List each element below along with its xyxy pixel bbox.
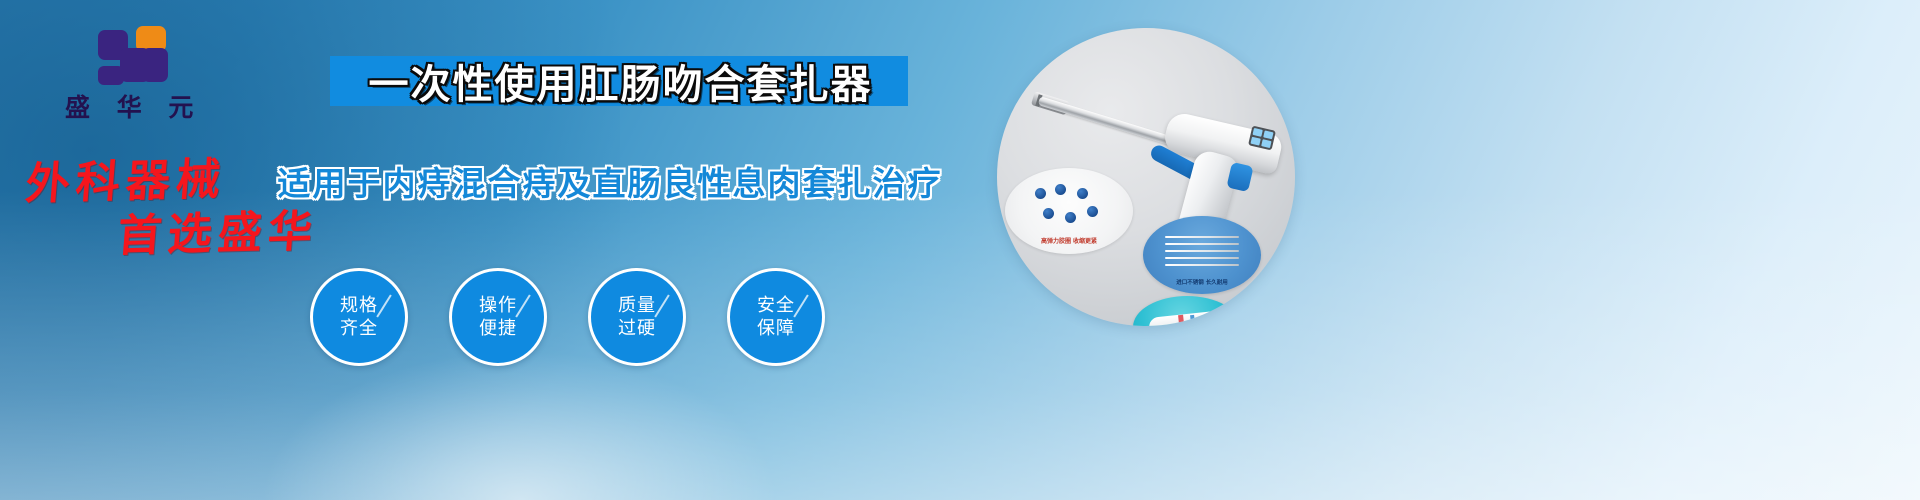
product-photo-circle[interactable]: 高弹力胶圈 收缩更紧 进口不锈钢 长久耐用: [997, 28, 1295, 326]
product-banner: 盛 华 元 外科器械 首选盛华 一次性使用肛肠吻合套扎器 适用于内痔混合痔及直肠…: [0, 0, 1920, 500]
feature-badge-line-1: 质量: [618, 294, 656, 317]
feature-badge-safety[interactable]: 安全 保障: [727, 268, 825, 366]
cartridge-body-icon: [1148, 310, 1226, 326]
background-bottom-glow: [260, 350, 780, 500]
page-subtitle: 适用于内痔混合痔及直肠良性息肉套扎治疗: [300, 158, 920, 204]
feature-badge-line-1: 安全: [757, 294, 795, 317]
feature-badge-line-2: 齐全: [340, 317, 378, 340]
needle-set-icon: [1165, 234, 1241, 268]
device-button-icon: [1226, 162, 1253, 192]
inset-caption-needles: 进口不锈钢 长久耐用: [1153, 278, 1251, 286]
feature-badge-line-2: 便捷: [479, 317, 517, 340]
feature-badge-operation[interactable]: 操作 便捷: [449, 268, 547, 366]
feature-badge-line-1: 操作: [479, 294, 517, 317]
feature-badge-specifications[interactable]: 规格 齐全: [310, 268, 408, 366]
feature-badge-line-1: 规格: [340, 294, 378, 317]
inset-photo-cartridge: [1133, 296, 1241, 326]
page-title: 一次性使用肛肠吻合套扎器: [338, 53, 903, 109]
slash-accent-icon: [376, 294, 391, 317]
slash-accent-icon: [515, 294, 530, 317]
inset-caption-rubber-bands: 高弹力胶圈 收缩更紧: [1023, 236, 1115, 245]
feature-badge-line-2: 过硬: [618, 317, 656, 340]
company-name: 盛 华 元: [62, 88, 198, 124]
product-photo-content: 高弹力胶圈 收缩更紧 进口不锈钢 长久耐用: [997, 28, 1295, 326]
slogan-line-2: 首选盛华: [115, 195, 321, 264]
rubber-band-dots-icon: [1035, 184, 1103, 228]
inset-photo-needles: 进口不锈钢 长久耐用: [1143, 216, 1261, 294]
slash-accent-icon: [654, 294, 669, 317]
feature-badge-quality[interactable]: 质量 过硬: [588, 268, 686, 366]
brand-logo[interactable]: 盛 华 元: [62, 26, 232, 126]
feature-badge-line-2: 保障: [757, 317, 795, 340]
shenghuayuan-logo-icon: [98, 26, 170, 86]
device-barrel-icon: [1038, 96, 1175, 146]
inset-photo-rubber-bands: 高弹力胶圈 收缩更紧: [1005, 168, 1133, 254]
slash-accent-icon: [793, 294, 808, 317]
feature-badge-list: 规格 齐全 操作 便捷 质量 过硬 安全 保障: [310, 268, 870, 368]
